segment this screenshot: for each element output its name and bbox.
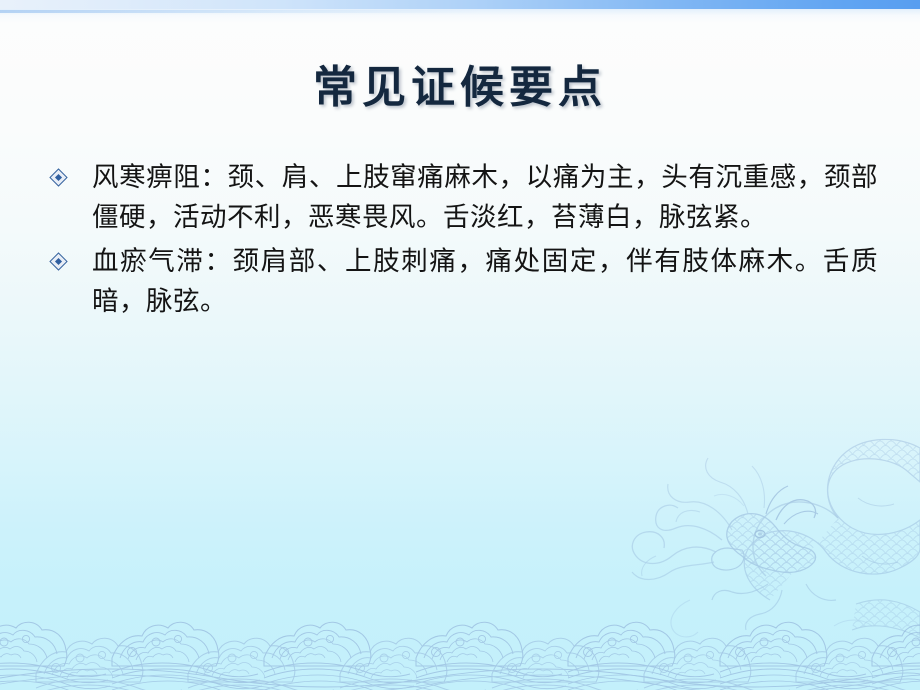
bullet-text: 风寒痹阻：颈、肩、上肢窜痛麻木，以痛为主，头有沉重感，颈部僵硬，活动不利，恶寒畏… [92,158,878,238]
bullet-item: 血瘀气滞：颈肩部、上肢刺痛，痛处固定，伴有肢体麻木。舌质暗，脉弦。 [52,242,878,322]
top-bar-streak [0,10,480,13]
bullet-marker [52,242,92,268]
slide-title: 常见证候要点 [0,64,920,112]
diamond-bullet-icon [49,168,67,186]
bullet-item: 风寒痹阻：颈、肩、上肢窜痛麻木，以痛为主，头有沉重感，颈部僵硬，活动不利，恶寒畏… [52,158,878,238]
slide-canvas: 常见证候要点 风寒痹阻：颈、肩、上肢窜痛麻木，以痛为主，头有沉重感，颈部僵硬，活… [0,0,920,690]
wave-pattern-border [0,622,920,690]
slide-body: 风寒痹阻：颈、肩、上肢窜痛麻木，以痛为主，头有沉重感，颈部僵硬，活动不利，恶寒畏… [52,158,878,326]
dragon-watermark [632,439,920,638]
bullet-text: 血瘀气滞：颈肩部、上肢刺痛，痛处固定，伴有肢体麻木。舌质暗，脉弦。 [92,242,878,322]
top-gradient-bar [0,0,920,9]
diamond-bullet-icon [49,252,67,270]
bullet-marker [52,158,92,184]
